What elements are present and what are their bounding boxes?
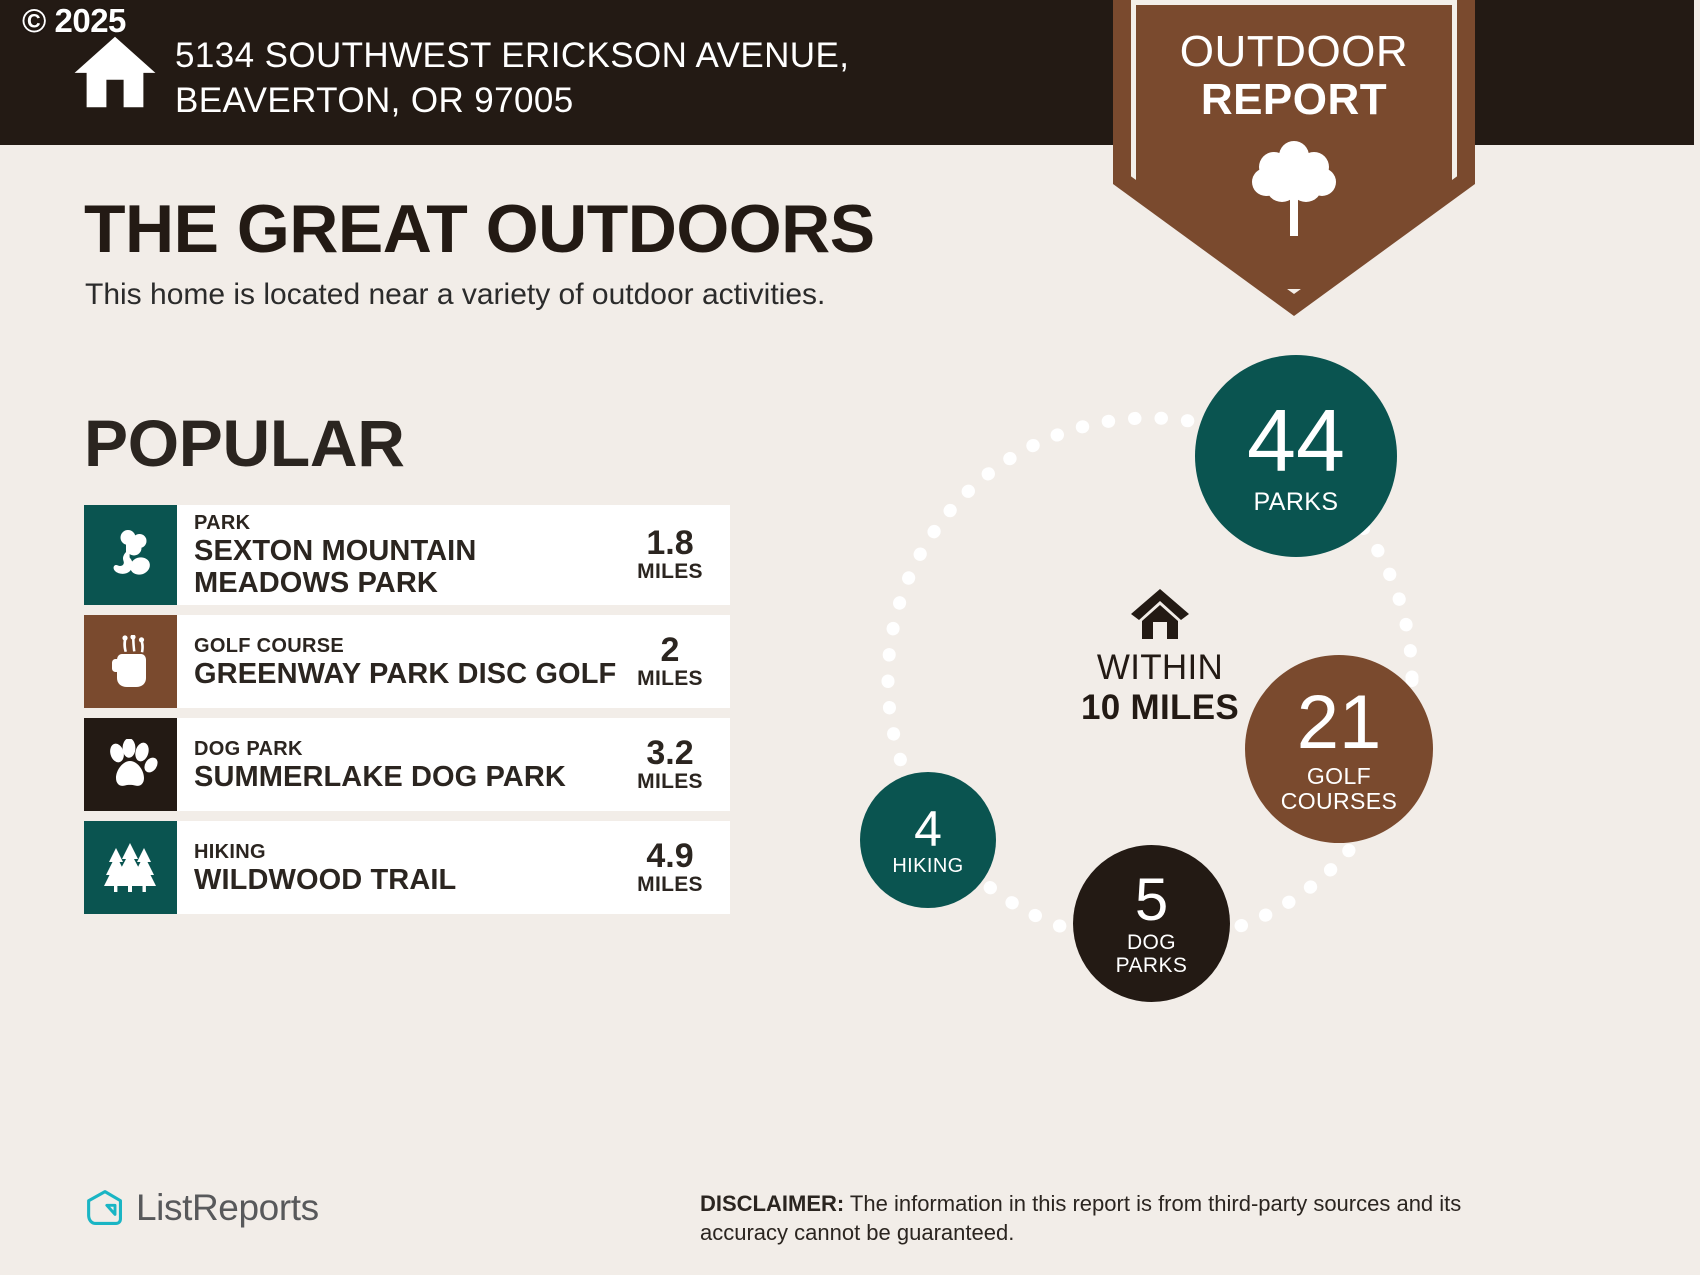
list-item-distance-unit: MILES	[618, 873, 722, 897]
list-item-name: GREENWAY PARK DISC GOLF	[194, 658, 618, 690]
list-item-distance-value: 3.2	[618, 736, 722, 770]
list-item-distance: 3.2 MILES	[618, 736, 730, 794]
disclaimer: DISCLAIMER: The information in this repo…	[700, 1189, 1500, 1247]
stat-golf-label-line2: COURSES	[1281, 789, 1398, 813]
list-item-distance-value: 2	[618, 633, 722, 667]
home-icon	[72, 35, 158, 109]
list-item[interactable]: HIKING WILDWOOD TRAIL 4.9 MILES	[84, 821, 730, 914]
popular-heading: POPULAR	[84, 405, 405, 481]
stat-dog-label-line2: PARKS	[1116, 955, 1188, 977]
list-item-distance: 2 MILES	[618, 633, 730, 691]
diagram-center-line1: WITHIN	[1025, 648, 1295, 688]
list-item-distance-unit: MILES	[618, 667, 722, 691]
stat-golf-label-line1: GOLF	[1307, 764, 1371, 788]
disclaimer-label: DISCLAIMER:	[700, 1191, 844, 1216]
right-edge-strip	[1694, 0, 1700, 1275]
list-item-distance-unit: MILES	[618, 560, 722, 584]
listreports-house-icon	[85, 1188, 125, 1228]
stat-circle-hiking[interactable]: 4 HIKING	[860, 772, 996, 908]
stat-parks-count: 44	[1247, 397, 1345, 485]
list-item-icon-tile	[84, 718, 177, 811]
golf-bag-icon	[106, 635, 156, 689]
list-item-name: SUMMERLAKE DOG PARK	[194, 761, 618, 793]
list-item-distance-unit: MILES	[618, 770, 722, 794]
list-item-icon-tile	[84, 615, 177, 708]
property-address: 5134 SOUTHWEST ERICKSON AVENUE, BEAVERTO…	[175, 33, 1075, 123]
pine-trees-icon	[103, 842, 159, 894]
badge-title-line2: REPORT	[1113, 76, 1475, 124]
listreports-logo-text: ListReports	[136, 1187, 319, 1229]
list-item-distance-value: 4.9	[618, 839, 722, 873]
list-item-distance-value: 1.8	[618, 526, 722, 560]
list-item[interactable]: PARK SEXTON MOUNTAIN MEADOWS PARK 1.8 MI…	[84, 505, 730, 605]
within-10-miles-diagram: 44 PARKS 21 GOLF COURSES 5 DOG PARKS 4 H…	[820, 340, 1500, 1020]
home-icon	[1129, 588, 1191, 640]
diagram-center: WITHIN 10 MILES	[1025, 588, 1295, 728]
list-item-text: GOLF COURSE GREENWAY PARK DISC GOLF	[177, 634, 618, 690]
list-item-name: SEXTON MOUNTAIN MEADOWS PARK	[194, 535, 618, 599]
badge-title: OUTDOOR REPORT	[1113, 28, 1475, 124]
list-item-name: WILDWOOD TRAIL	[194, 864, 618, 896]
list-item-distance: 1.8 MILES	[618, 526, 730, 584]
list-item-distance: 4.9 MILES	[618, 839, 730, 897]
page-subtitle: This home is located near a variety of o…	[85, 278, 825, 312]
stat-circle-parks[interactable]: 44 PARKS	[1195, 355, 1397, 557]
list-item-icon-tile	[84, 821, 177, 914]
stat-dog-count: 5	[1135, 870, 1168, 930]
copyright-label: © 2025	[22, 2, 126, 40]
list-item-text: PARK SEXTON MOUNTAIN MEADOWS PARK	[177, 511, 618, 599]
stat-circle-dog-parks[interactable]: 5 DOG PARKS	[1073, 845, 1230, 1002]
listreports-logo[interactable]: ListReports	[85, 1187, 319, 1229]
list-item-category: DOG PARK	[194, 737, 618, 761]
tree-icon	[1244, 134, 1344, 238]
list-item-text: HIKING WILDWOOD TRAIL	[177, 840, 618, 896]
page-title: THE GREAT OUTDOORS	[84, 190, 875, 268]
badge-title-line1: OUTDOOR	[1113, 28, 1475, 76]
list-item-category: PARK	[194, 511, 618, 535]
list-item[interactable]: DOG PARK SUMMERLAKE DOG PARK 3.2 MILES	[84, 718, 730, 811]
diagram-center-line2: 10 MILES	[1025, 688, 1295, 728]
list-item-icon-tile	[84, 505, 177, 605]
paw-icon	[104, 739, 158, 791]
stat-dog-label-line1: DOG	[1127, 932, 1176, 954]
list-item-text: DOG PARK SUMMERLAKE DOG PARK	[177, 737, 618, 793]
stat-golf-count: 21	[1297, 685, 1382, 761]
stat-parks-label: PARKS	[1254, 489, 1339, 515]
list-item-category: HIKING	[194, 840, 618, 864]
stat-hiking-count: 4	[914, 804, 942, 854]
outdoor-report-page: © 2025 5134 SOUTHWEST ERICKSON AVENUE, B…	[0, 0, 1700, 1275]
stat-hiking-label: HIKING	[892, 856, 963, 877]
park-tree-icon	[104, 528, 158, 582]
list-item[interactable]: GOLF COURSE GREENWAY PARK DISC GOLF 2 MI…	[84, 615, 730, 708]
list-item-category: GOLF COURSE	[194, 634, 618, 658]
outdoor-report-badge: OUTDOOR REPORT	[1113, 0, 1475, 316]
popular-list: PARK SEXTON MOUNTAIN MEADOWS PARK 1.8 MI…	[84, 505, 730, 924]
